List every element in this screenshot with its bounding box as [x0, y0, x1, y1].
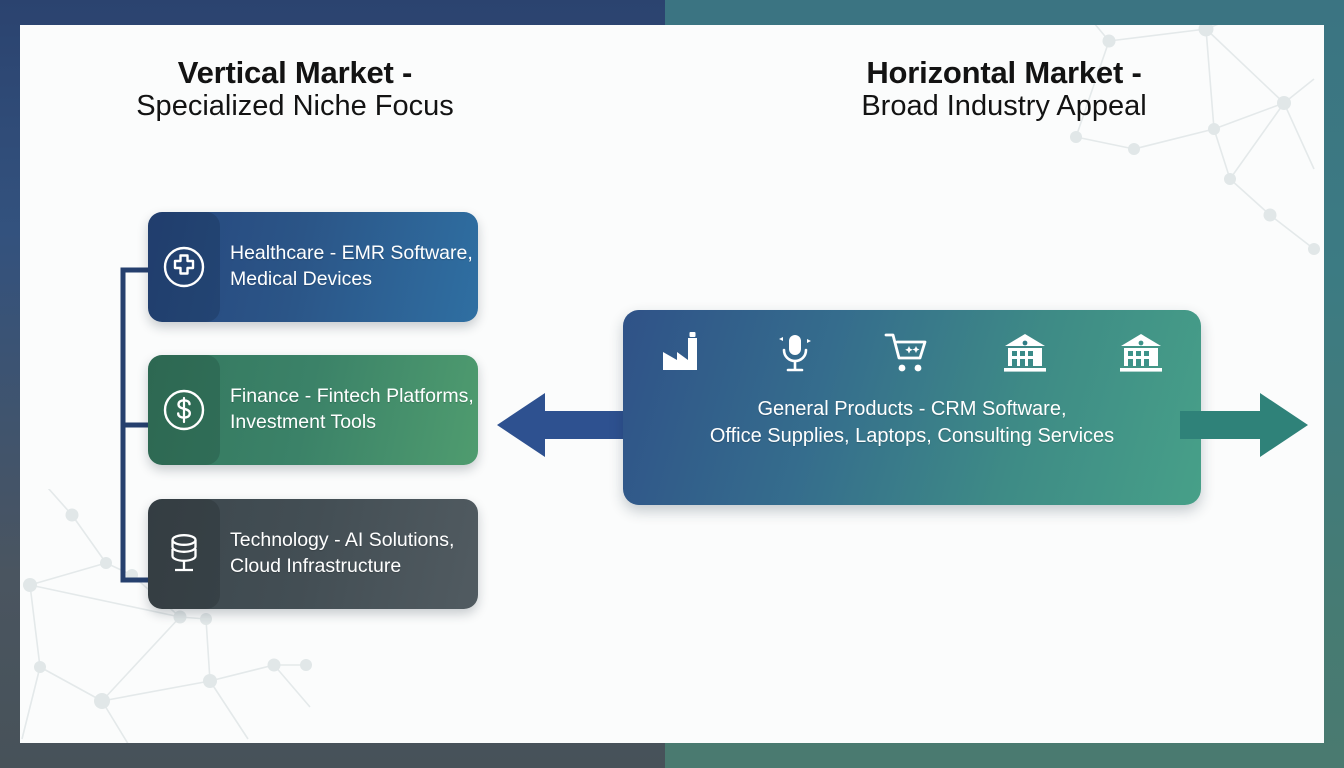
card-healthcare[interactable]: Healthcare - EMR Software, Medical Devic… [148, 212, 478, 322]
heading-vertical-market: Vertical Market - Specialized Niche Focu… [120, 55, 470, 124]
center-panel-line1: General Products - CRM Software, [623, 396, 1201, 423]
microphone-icon [778, 332, 812, 374]
shopping-cart-icon [884, 332, 930, 374]
card-healthcare-line2: Medical Devices [230, 267, 473, 293]
card-healthcare-icon-tile [148, 212, 220, 322]
left-arrow [495, 391, 625, 459]
card-healthcare-line1: Healthcare - EMR Software, [230, 241, 473, 267]
heading-horizontal-market: Horizontal Market - Broad Industry Appea… [825, 55, 1183, 124]
center-panel-icon-row [623, 310, 1201, 374]
card-finance-text: Finance - Fintech Platforms, Investment … [230, 384, 474, 435]
heading-vertical-line2: Specialized Niche Focus [120, 90, 470, 124]
card-finance[interactable]: Finance - Fintech Platforms, Investment … [148, 355, 478, 465]
center-panel-text: General Products - CRM Software, Office … [623, 396, 1201, 449]
card-technology-line1: Technology - AI Solutions, [230, 528, 454, 554]
right-arrow [1180, 391, 1310, 459]
card-technology-icon-tile [148, 499, 220, 609]
card-technology[interactable]: Technology - AI Solutions, Cloud Infrast… [148, 499, 478, 609]
heading-horizontal-line1: Horizontal Market - [825, 55, 1183, 90]
card-technology-text: Technology - AI Solutions, Cloud Infrast… [230, 528, 454, 579]
database-stack-icon [161, 529, 207, 579]
medical-cross-circle-icon [161, 244, 207, 290]
card-finance-line2: Investment Tools [230, 410, 474, 436]
bank-building-icon [1119, 332, 1163, 374]
heading-vertical-line1: Vertical Market - [120, 55, 470, 90]
dollar-circle-icon [161, 387, 207, 433]
heading-horizontal-line2: Broad Industry Appeal [825, 90, 1183, 124]
card-healthcare-text: Healthcare - EMR Software, Medical Devic… [230, 241, 473, 292]
slide-canvas: Vertical Market - Specialized Niche Focu… [20, 25, 1324, 743]
bank-building-icon [1003, 332, 1047, 374]
factory-icon [661, 332, 705, 372]
center-panel-line2: Office Supplies, Laptops, Consulting Ser… [623, 423, 1201, 450]
center-panel-general-products[interactable]: General Products - CRM Software, Office … [623, 310, 1201, 505]
card-finance-line1: Finance - Fintech Platforms, [230, 384, 474, 410]
card-technology-line2: Cloud Infrastructure [230, 554, 454, 580]
card-finance-icon-tile [148, 355, 220, 465]
